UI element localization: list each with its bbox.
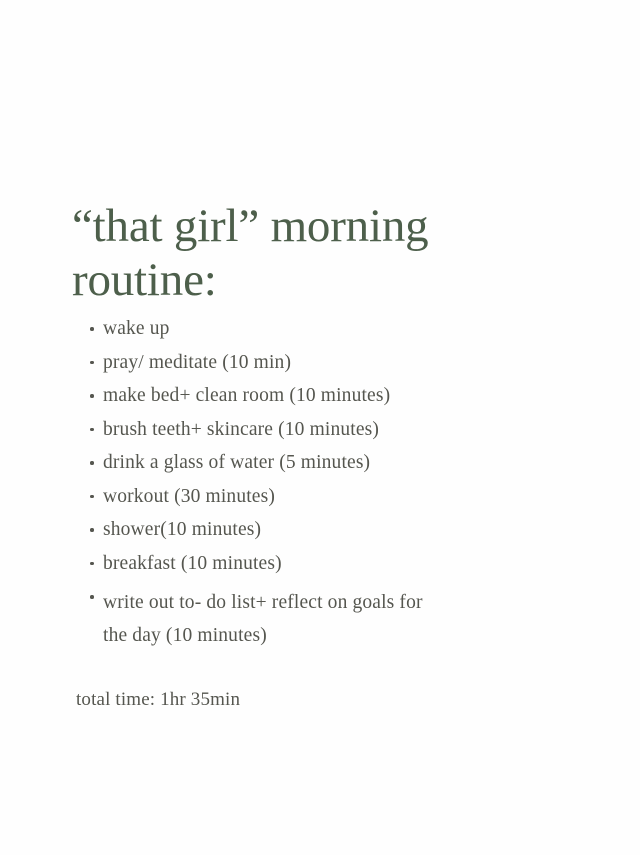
- note-page: “that girl” morning routine: wake up pra…: [0, 0, 640, 855]
- list-item: drink a glass of water (5 minutes): [76, 452, 556, 473]
- routine-list: wake up pray/ meditate (10 min) make bed…: [76, 318, 556, 665]
- bullet-icon: [90, 428, 94, 432]
- list-item: workout (30 minutes): [76, 486, 556, 507]
- list-item-label: drink a glass of water (5 minutes): [103, 452, 556, 473]
- bullet-icon: [90, 361, 94, 365]
- bullet-icon: [90, 327, 94, 331]
- list-item: pray/ meditate (10 min): [76, 352, 556, 373]
- list-item: brush teeth+ skincare (10 minutes): [76, 419, 556, 440]
- list-item-label: shower(10 minutes): [103, 519, 556, 540]
- bullet-icon: [90, 528, 94, 532]
- list-item-label: brush teeth+ skincare (10 minutes): [103, 419, 556, 440]
- bullet-icon: [90, 495, 94, 499]
- bullet-icon: [90, 562, 94, 566]
- list-item: make bed+ clean room (10 minutes): [76, 385, 556, 406]
- list-item-label: wake up: [103, 318, 556, 339]
- list-item: breakfast (10 minutes): [76, 553, 556, 574]
- list-item: wake up: [76, 318, 556, 339]
- list-item-label: pray/ meditate (10 min): [103, 352, 556, 373]
- page-title: “that girl” morning routine:: [72, 199, 542, 307]
- bullet-icon: [90, 461, 94, 465]
- list-item-label: breakfast (10 minutes): [103, 553, 556, 574]
- bullet-icon: [90, 394, 94, 398]
- list-item-label: write out to- do list+ reflect on goals …: [103, 586, 433, 652]
- list-item-label: workout (30 minutes): [103, 486, 556, 507]
- bullet-icon: [90, 595, 94, 599]
- total-time-label: total time: 1hr 35min: [76, 688, 240, 712]
- list-item-label: make bed+ clean room (10 minutes): [103, 385, 556, 406]
- list-item: write out to- do list+ reflect on goals …: [76, 586, 556, 652]
- list-item: shower(10 minutes): [76, 519, 556, 540]
